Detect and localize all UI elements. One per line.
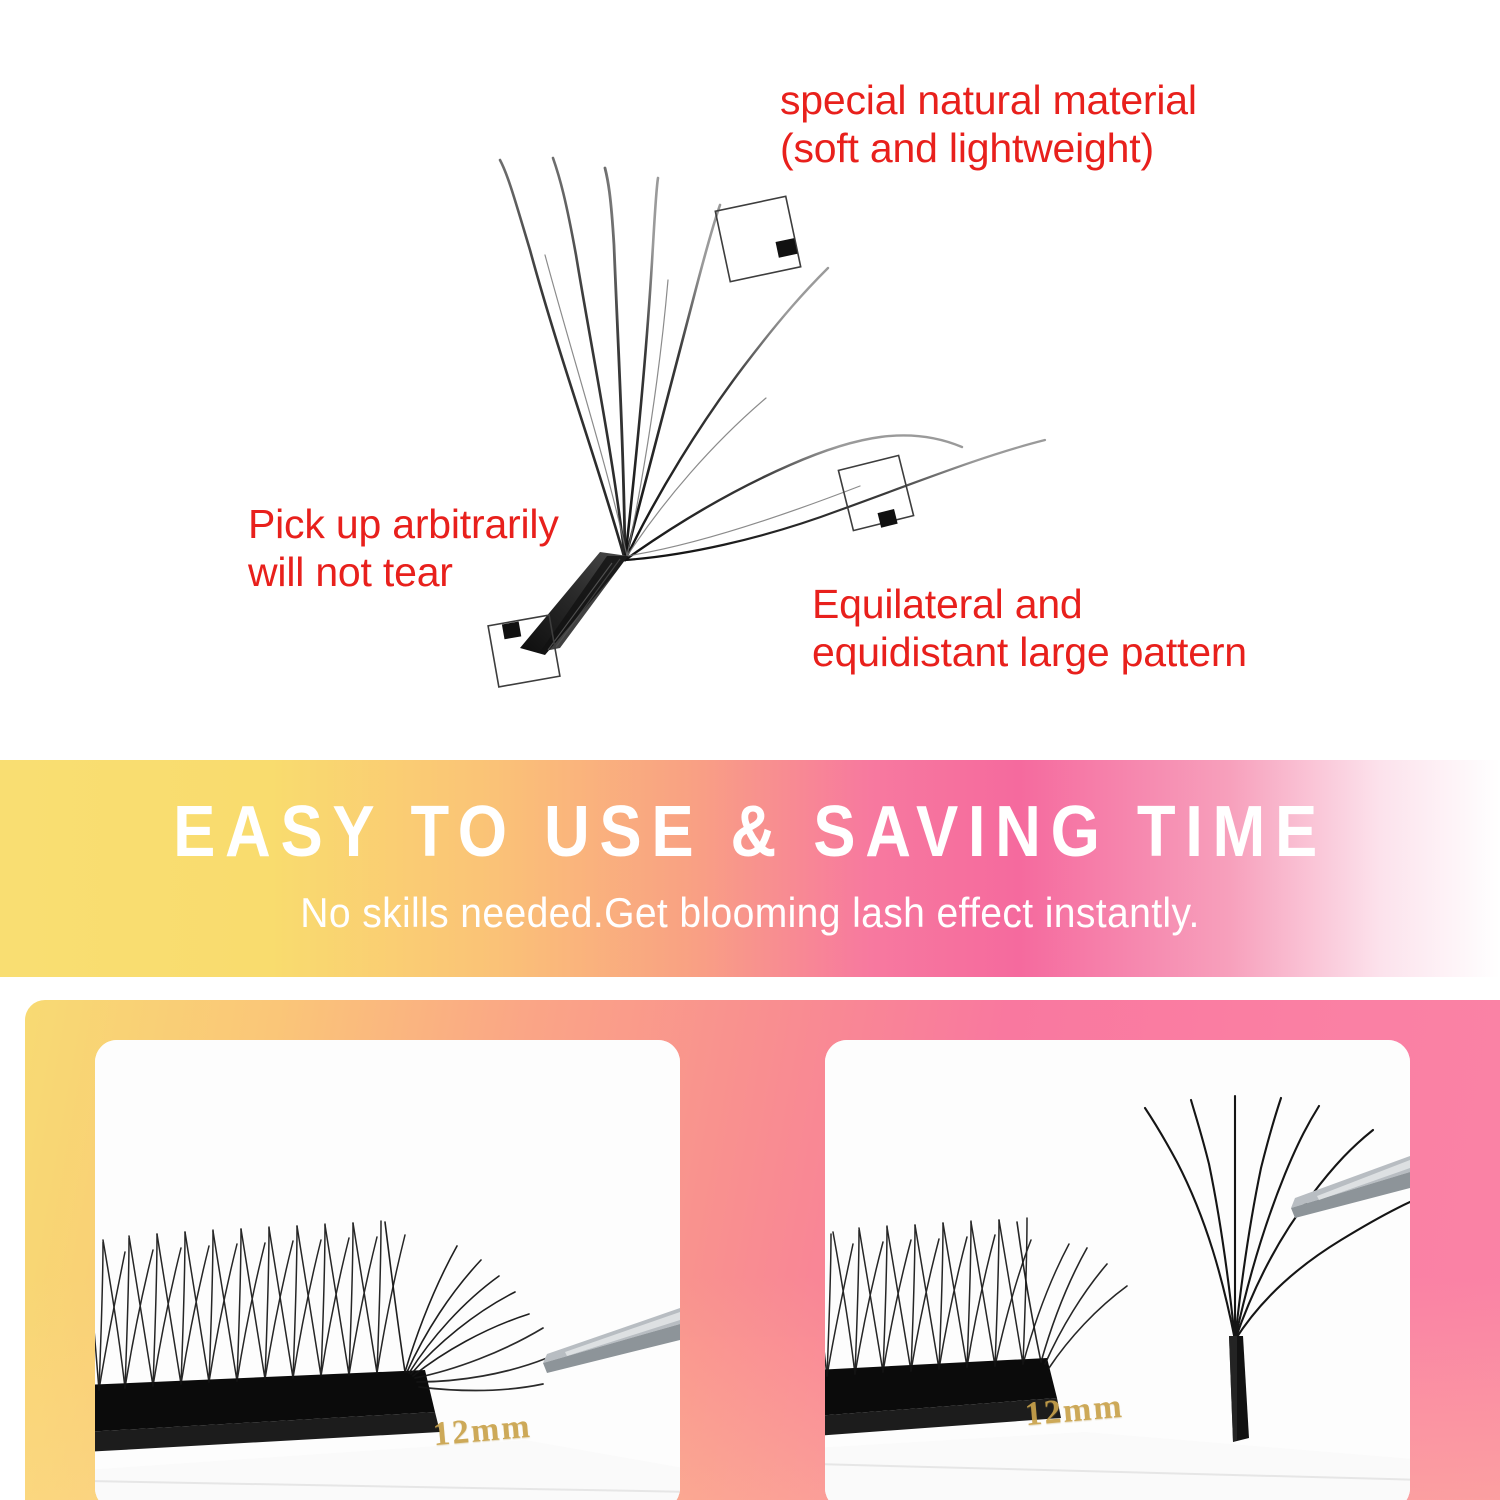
callout-special-natural-material: special natural material (soft and light… (780, 76, 1197, 173)
product-photo-section: 12mm (25, 1000, 1500, 1500)
callout-pick-up-arbitrarily: Pick up arbitrarily will not tear (248, 500, 559, 597)
callout-marker-middle (838, 455, 913, 530)
feature-banner: EASY TO USE & SAVING TIME No skills need… (0, 760, 1500, 977)
photo-card-lash-fan-lift: 12mm (825, 1040, 1410, 1500)
lash-fibers (500, 158, 1045, 560)
lash-fan-lift-photo (825, 1040, 1410, 1500)
banner-subheadline: No skills needed.Get blooming lash effec… (53, 892, 1448, 934)
callout-equilateral-equidistant: Equilateral and equidistant large patter… (812, 580, 1247, 677)
banner-headline: EASY TO USE & SAVING TIME (90, 796, 1410, 868)
photo-card-lash-tray: 12mm (95, 1040, 680, 1500)
hero-diagram-section: special natural material (soft and light… (0, 0, 1500, 757)
lash-fan-diagram (0, 0, 1500, 757)
lash-tray-photo (95, 1040, 680, 1500)
callout-marker-top (715, 196, 800, 281)
